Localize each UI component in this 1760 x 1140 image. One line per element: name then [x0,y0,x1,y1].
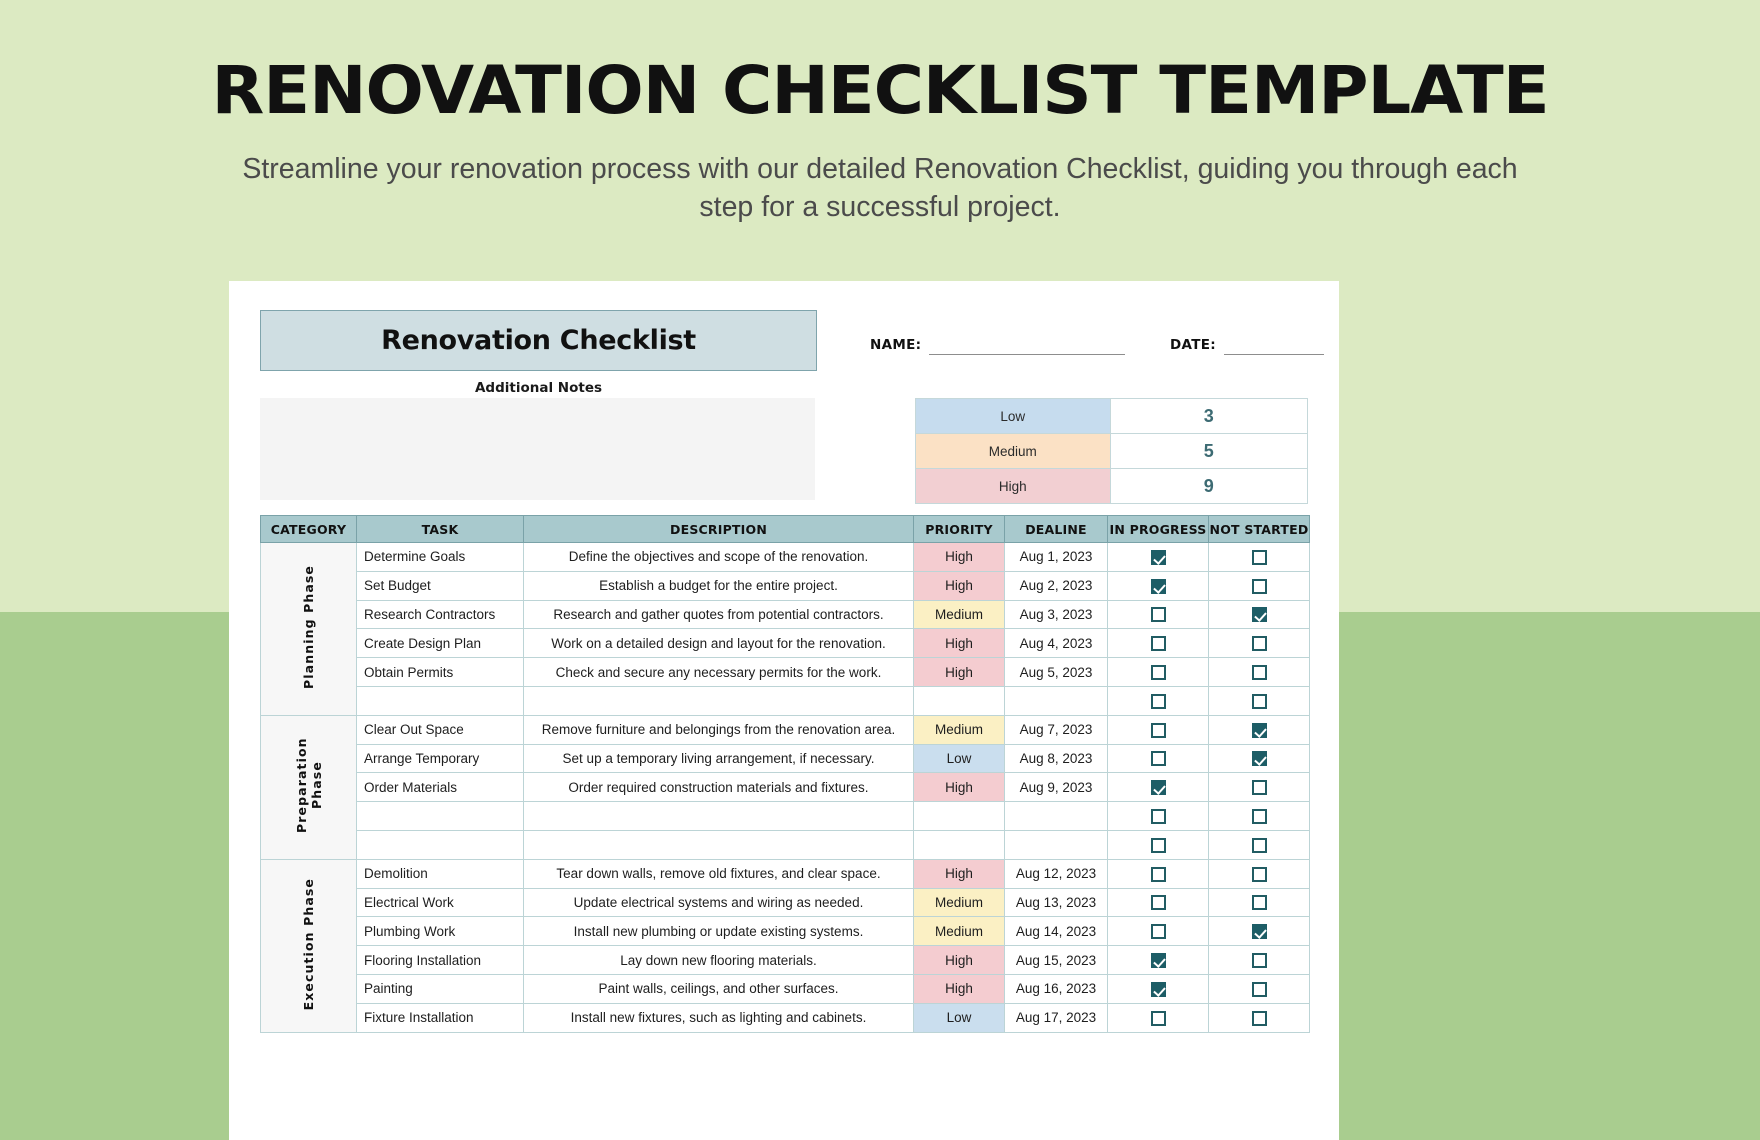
description-cell[interactable]: Order required construction materials an… [524,773,914,802]
checkbox-checked-icon[interactable] [1151,780,1166,795]
description-cell[interactable]: Paint walls, ceilings, and other surface… [524,974,914,1003]
legend-label: High [916,469,1111,504]
not-started-checkbox-cell[interactable] [1209,629,1310,658]
checkbox-checked-icon[interactable] [1151,982,1166,997]
in-progress-checkbox-cell[interactable] [1108,543,1209,572]
page-subtitle: Streamline your renovation process with … [215,151,1545,226]
sheet-title: Renovation Checklist [381,325,696,356]
priority-cell[interactable]: Medium [914,888,1005,917]
category-label: Execution Phase [301,878,316,1010]
deadline-cell[interactable]: Aug 1, 2023 [1005,543,1108,572]
not-started-checkbox-cell[interactable] [1209,859,1310,888]
description-cell[interactable]: Define the objectives and scope of the r… [524,543,914,572]
category-cell: Planning Phase [261,543,357,716]
checkbox-empty-icon[interactable] [1252,550,1267,565]
checkbox-checked-icon[interactable] [1151,550,1166,565]
column-header: NOT STARTED [1209,516,1310,543]
priority-cell[interactable]: Medium [914,917,1005,946]
spreadsheet-canvas: Renovation Checklist Additional Notes NA… [229,281,1339,1140]
page-title: RENOVATION CHECKLIST TEMPLATE [0,56,1760,125]
column-header: CATEGORY [261,516,357,543]
description-cell[interactable]: Install new plumbing or update existing … [524,917,914,946]
table-row [261,830,1310,859]
table-row [261,686,1310,715]
task-cell[interactable]: Order Materials [357,773,524,802]
task-cell[interactable]: Clear Out Space [357,715,524,744]
task-cell[interactable]: Flooring Installation [357,946,524,975]
priority-cell[interactable]: Low [914,1003,1005,1032]
in-progress-checkbox-cell[interactable] [1108,600,1209,629]
deadline-cell[interactable]: Aug 7, 2023 [1005,715,1108,744]
deadline-cell[interactable] [1005,830,1108,859]
checkbox-checked-icon[interactable] [1151,579,1166,594]
date-input[interactable] [1224,337,1324,355]
description-cell[interactable]: Update electrical systems and wiring as … [524,888,914,917]
checkbox-checked-icon[interactable] [1252,924,1267,939]
description-cell[interactable] [524,830,914,859]
in-progress-checkbox-cell[interactable] [1108,629,1209,658]
description-cell[interactable]: Lay down new flooring materials. [524,946,914,975]
priority-cell[interactable] [914,830,1005,859]
checkbox-empty-icon[interactable] [1252,953,1267,968]
checkbox-checked-icon[interactable] [1252,751,1267,766]
task-cell[interactable]: Fixture Installation [357,1003,524,1032]
priority-cell[interactable]: High [914,658,1005,687]
task-cell[interactable]: Electrical Work [357,888,524,917]
in-progress-checkbox-cell[interactable] [1108,1003,1209,1032]
table-row: Execution PhaseDemolitionTear down walls… [261,859,1310,888]
table-row: Set BudgetEstablish a budget for the ent… [261,571,1310,600]
checkbox-empty-icon[interactable] [1252,809,1267,824]
legend-row: High9 [916,469,1308,504]
deadline-cell[interactable] [1005,802,1108,831]
description-cell[interactable]: Install new fixtures, such as lighting a… [524,1003,914,1032]
table-row: Planning PhaseDetermine GoalsDefine the … [261,543,1310,572]
checkbox-empty-icon[interactable] [1252,636,1267,651]
not-started-checkbox-cell[interactable] [1209,744,1310,773]
not-started-checkbox-cell[interactable] [1209,802,1310,831]
priority-cell[interactable]: High [914,629,1005,658]
in-progress-checkbox-cell[interactable] [1108,686,1209,715]
checkbox-checked-icon[interactable] [1252,723,1267,738]
name-label: NAME: [870,337,921,355]
deadline-cell[interactable]: Aug 8, 2023 [1005,744,1108,773]
task-cell[interactable]: Research Contractors [357,600,524,629]
checkbox-empty-icon[interactable] [1151,665,1166,680]
table-row: Flooring InstallationLay down new floori… [261,946,1310,975]
priority-cell[interactable]: Medium [914,715,1005,744]
legend-label: Medium [916,434,1111,469]
checkbox-empty-icon[interactable] [1151,636,1166,651]
category-label: Planning Phase [301,565,316,689]
in-progress-checkbox-cell[interactable] [1108,773,1209,802]
description-cell[interactable]: Remove furniture and belongings from the… [524,715,914,744]
table-row: Create Design PlanWork on a detailed des… [261,629,1310,658]
description-cell[interactable] [524,802,914,831]
not-started-checkbox-cell[interactable] [1209,658,1310,687]
checkbox-empty-icon[interactable] [1252,579,1267,594]
in-progress-checkbox-cell[interactable] [1108,859,1209,888]
in-progress-checkbox-cell[interactable] [1108,715,1209,744]
hero-section: RENOVATION CHECKLIST TEMPLATE Streamline… [0,0,1760,227]
deadline-cell[interactable]: Aug 2, 2023 [1005,571,1108,600]
column-header: DESCRIPTION [524,516,914,543]
checkbox-empty-icon[interactable] [1151,1011,1166,1026]
not-started-checkbox-cell[interactable] [1209,715,1310,744]
priority-cell[interactable]: Medium [914,600,1005,629]
in-progress-checkbox-cell[interactable] [1108,830,1209,859]
task-cell[interactable]: Demolition [357,859,524,888]
not-started-checkbox-cell[interactable] [1209,1003,1310,1032]
description-cell[interactable]: Tear down walls, remove old fixtures, an… [524,859,914,888]
sheet-title-box: Renovation Checklist [260,310,817,371]
not-started-checkbox-cell[interactable] [1209,946,1310,975]
table-row: Plumbing WorkInstall new plumbing or upd… [261,917,1310,946]
in-progress-checkbox-cell[interactable] [1108,658,1209,687]
checkbox-empty-icon[interactable] [1252,1011,1267,1026]
category-cell: Preparation Phase [261,715,357,859]
task-cell[interactable]: Painting [357,974,524,1003]
column-header: IN PROGRESS [1108,516,1209,543]
deadline-cell[interactable]: Aug 12, 2023 [1005,859,1108,888]
deadline-cell[interactable]: Aug 14, 2023 [1005,917,1108,946]
checkbox-empty-icon[interactable] [1252,694,1267,709]
deadline-cell[interactable]: Aug 17, 2023 [1005,1003,1108,1032]
task-cell[interactable]: Arrange Temporary [357,744,524,773]
not-started-checkbox-cell[interactable] [1209,600,1310,629]
checkbox-empty-icon[interactable] [1151,809,1166,824]
task-cell[interactable]: Create Design Plan [357,629,524,658]
checkbox-empty-icon[interactable] [1252,780,1267,795]
priority-cell[interactable]: High [914,543,1005,572]
checkbox-empty-icon[interactable] [1252,895,1267,910]
legend-count: 9 [1110,469,1307,504]
date-label: DATE: [1170,337,1216,355]
date-field[interactable]: DATE: [1170,337,1324,355]
deadline-cell[interactable]: Aug 3, 2023 [1005,600,1108,629]
in-progress-checkbox-cell[interactable] [1108,946,1209,975]
deadline-cell[interactable] [1005,686,1108,715]
name-input[interactable] [929,337,1125,355]
task-cell[interactable] [357,802,524,831]
not-started-checkbox-cell[interactable] [1209,917,1310,946]
checkbox-empty-icon[interactable] [1252,982,1267,997]
checkbox-empty-icon[interactable] [1151,924,1166,939]
in-progress-checkbox-cell[interactable] [1108,802,1209,831]
deadline-cell[interactable]: Aug 4, 2023 [1005,629,1108,658]
category-label: Preparation Phase [294,714,324,857]
task-cell[interactable]: Plumbing Work [357,917,524,946]
table-row: Fixture InstallationInstall new fixtures… [261,1003,1310,1032]
priority-cell[interactable]: High [914,946,1005,975]
table-row: Electrical WorkUpdate electrical systems… [261,888,1310,917]
legend-count: 5 [1110,434,1307,469]
priority-cell[interactable]: High [914,859,1005,888]
not-started-checkbox-cell[interactable] [1209,773,1310,802]
table-row: Obtain PermitsCheck and secure any neces… [261,658,1310,687]
description-cell[interactable]: Check and secure any necessary permits f… [524,658,914,687]
legend-count: 3 [1110,399,1307,434]
checkbox-empty-icon[interactable] [1252,838,1267,853]
description-cell[interactable]: Set up a temporary living arrangement, i… [524,744,914,773]
description-cell[interactable]: Research and gather quotes from potentia… [524,600,914,629]
in-progress-checkbox-cell[interactable] [1108,571,1209,600]
table-row: Order MaterialsOrder required constructi… [261,773,1310,802]
table-row [261,802,1310,831]
legend-row: Low3 [916,399,1308,434]
priority-cell[interactable] [914,686,1005,715]
additional-notes-label: Additional Notes [260,380,817,396]
checkbox-empty-icon[interactable] [1151,895,1166,910]
checkbox-empty-icon[interactable] [1151,867,1166,882]
checklist-table: CATEGORYTASKDESCRIPTIONPRIORITYDEALINEIN… [260,515,1310,1033]
deadline-cell[interactable]: Aug 9, 2023 [1005,773,1108,802]
not-started-checkbox-cell[interactable] [1209,888,1310,917]
column-header: DEALINE [1005,516,1108,543]
description-cell[interactable]: Establish a budget for the entire projec… [524,571,914,600]
table-header-row: CATEGORYTASKDESCRIPTIONPRIORITYDEALINEIN… [261,516,1310,543]
table-row: Research ContractorsResearch and gather … [261,600,1310,629]
column-header: PRIORITY [914,516,1005,543]
deadline-cell[interactable]: Aug 16, 2023 [1005,974,1108,1003]
deadline-cell[interactable]: Aug 13, 2023 [1005,888,1108,917]
checkbox-empty-icon[interactable] [1252,867,1267,882]
checkbox-checked-icon[interactable] [1151,953,1166,968]
deadline-cell[interactable]: Aug 15, 2023 [1005,946,1108,975]
task-cell[interactable]: Obtain Permits [357,658,524,687]
not-started-checkbox-cell[interactable] [1209,830,1310,859]
checkbox-empty-icon[interactable] [1252,665,1267,680]
legend-label: Low [916,399,1111,434]
checkbox-empty-icon[interactable] [1151,607,1166,622]
priority-cell[interactable]: High [914,773,1005,802]
task-cell[interactable] [357,830,524,859]
in-progress-checkbox-cell[interactable] [1108,888,1209,917]
table-row: Preparation PhaseClear Out SpaceRemove f… [261,715,1310,744]
priority-cell[interactable]: Low [914,744,1005,773]
checkbox-checked-icon[interactable] [1252,607,1267,622]
task-cell[interactable]: Set Budget [357,571,524,600]
name-field[interactable]: NAME: [870,337,1125,355]
checkbox-empty-icon[interactable] [1151,838,1166,853]
not-started-checkbox-cell[interactable] [1209,686,1310,715]
not-started-checkbox-cell[interactable] [1209,571,1310,600]
legend-row: Medium5 [916,434,1308,469]
checkbox-empty-icon[interactable] [1151,694,1166,709]
table-row: PaintingPaint walls, ceilings, and other… [261,974,1310,1003]
description-cell[interactable] [524,686,914,715]
description-cell[interactable]: Work on a detailed design and layout for… [524,629,914,658]
checkbox-empty-icon[interactable] [1151,751,1166,766]
priority-cell[interactable]: High [914,974,1005,1003]
in-progress-checkbox-cell[interactable] [1108,917,1209,946]
category-cell: Execution Phase [261,859,357,1032]
table-row: Arrange TemporarySet up a temporary livi… [261,744,1310,773]
in-progress-checkbox-cell[interactable] [1108,744,1209,773]
task-cell[interactable]: Determine Goals [357,543,524,572]
task-cell[interactable] [357,686,524,715]
checkbox-empty-icon[interactable] [1151,723,1166,738]
not-started-checkbox-cell[interactable] [1209,543,1310,572]
priority-cell[interactable] [914,802,1005,831]
column-header: TASK [357,516,524,543]
additional-notes-input[interactable] [260,398,815,500]
not-started-checkbox-cell[interactable] [1209,974,1310,1003]
priority-cell[interactable]: High [914,571,1005,600]
in-progress-checkbox-cell[interactable] [1108,974,1209,1003]
deadline-cell[interactable]: Aug 5, 2023 [1005,658,1108,687]
priority-legend: Low3Medium5High9 [915,398,1308,504]
